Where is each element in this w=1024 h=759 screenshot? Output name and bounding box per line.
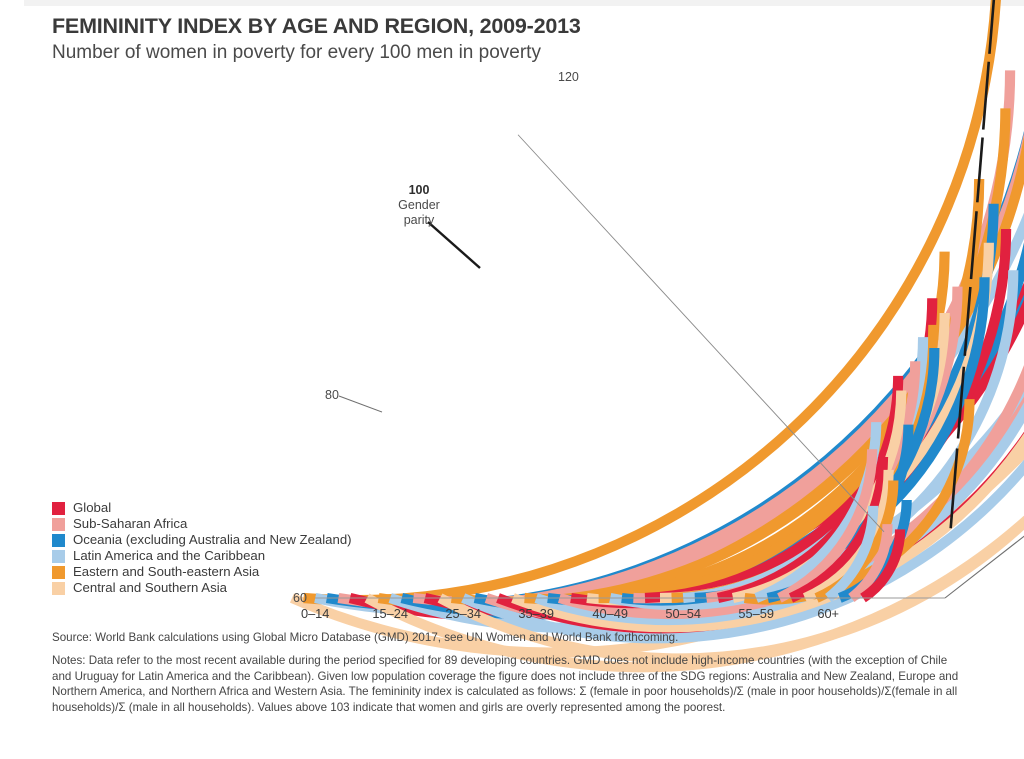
parity-value-label: 100	[388, 183, 450, 198]
chart-legend: Global Sub-Saharan Africa Oceania (exclu…	[52, 500, 362, 596]
category-label: 15–24	[372, 606, 408, 621]
legend-swatch-icon	[52, 534, 65, 547]
source-note: Source: World Bank calculations using Gl…	[52, 630, 962, 645]
legend-item-label: Central and Southern Asia	[73, 580, 227, 596]
leader-line-100	[428, 222, 480, 268]
legend-swatch-icon	[52, 566, 65, 579]
legend-item[interactable]: Global	[52, 500, 362, 516]
legend-item[interactable]: Eastern and South-eastern Asia	[52, 564, 362, 580]
axis-tick-label-120: 120	[558, 70, 579, 84]
gender-parity-annotation: 100 Gender parity	[388, 183, 450, 228]
category-label: 0–14	[301, 606, 329, 621]
axis-tick-label-80: 80	[325, 388, 339, 402]
figure-root: FEMININITY INDEX BY AGE AND REGION, 2009…	[0, 0, 1024, 754]
legend-item[interactable]: Sub-Saharan Africa	[52, 516, 362, 532]
reference-ray-80	[518, 135, 884, 532]
legend-item-label: Oceania (excluding Australia and New Zea…	[73, 532, 352, 548]
category-label: 50–54	[665, 606, 701, 621]
category-label: 35–39	[518, 606, 554, 621]
legend-item[interactable]: Latin America and the Caribbean	[52, 548, 362, 564]
category-label: 40–49	[592, 606, 628, 621]
legend-swatch-icon	[52, 550, 65, 563]
legend-item-label: Global	[73, 500, 111, 516]
category-label: 55–59	[738, 606, 774, 621]
legend-swatch-icon	[52, 518, 65, 531]
category-label: 60+	[817, 606, 839, 621]
footnotes-block: Source: World Bank calculations using Gl…	[52, 630, 962, 715]
legend-item-label: Latin America and the Caribbean	[73, 548, 265, 564]
methodology-note: Notes: Data refer to the most recent ava…	[52, 653, 962, 715]
legend-swatch-icon	[52, 582, 65, 595]
legend-item-label: Sub-Saharan Africa	[73, 516, 187, 532]
leader-line-80	[339, 396, 382, 412]
legend-item-label: Eastern and South-eastern Asia	[73, 564, 259, 580]
category-label: 25–34	[445, 606, 481, 621]
legend-swatch-icon	[52, 502, 65, 515]
legend-item[interactable]: Oceania (excluding Australia and New Zea…	[52, 532, 362, 548]
legend-item[interactable]: Central and Southern Asia	[52, 580, 362, 596]
parity-caption-label: Gender parity	[388, 198, 450, 228]
